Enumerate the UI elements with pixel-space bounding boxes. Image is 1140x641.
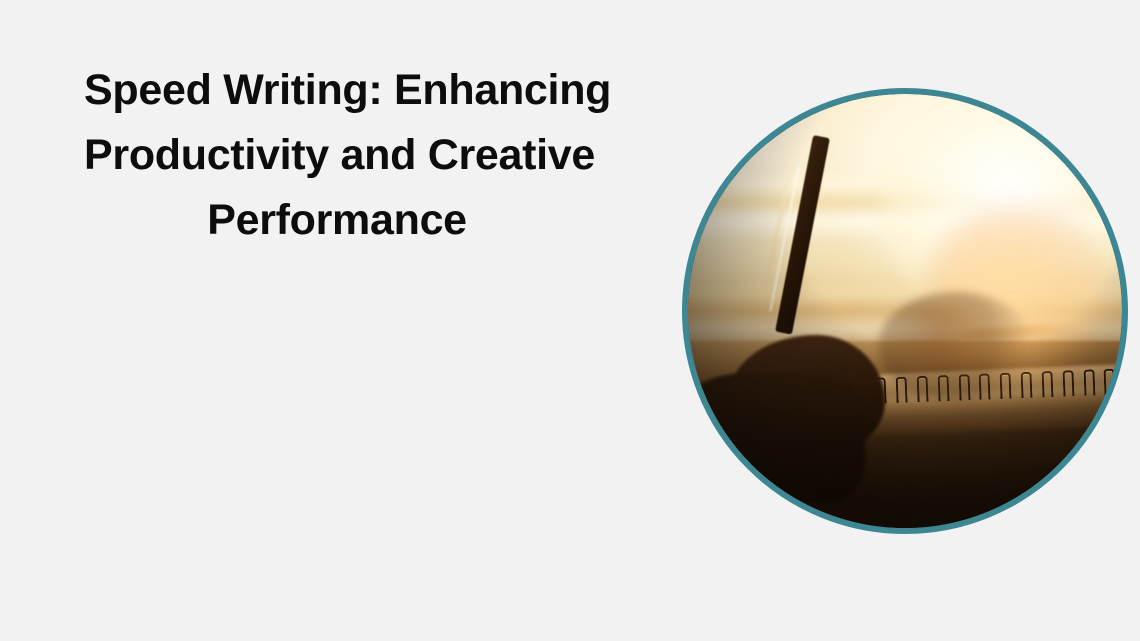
page-title: Speed Writing: Enhancing Productivity an… (84, 58, 590, 253)
slide-canvas: Speed Writing: Enhancing Productivity an… (0, 0, 1140, 641)
writing-hand-photo (688, 94, 1122, 528)
title-line-1: Speed Writing: Enhancing (84, 58, 590, 123)
title-line-3: Performance (84, 188, 590, 253)
circular-photo-frame (682, 88, 1128, 534)
photo-vignette (688, 94, 1122, 528)
title-line-2: Productivity and Creative (84, 123, 590, 188)
